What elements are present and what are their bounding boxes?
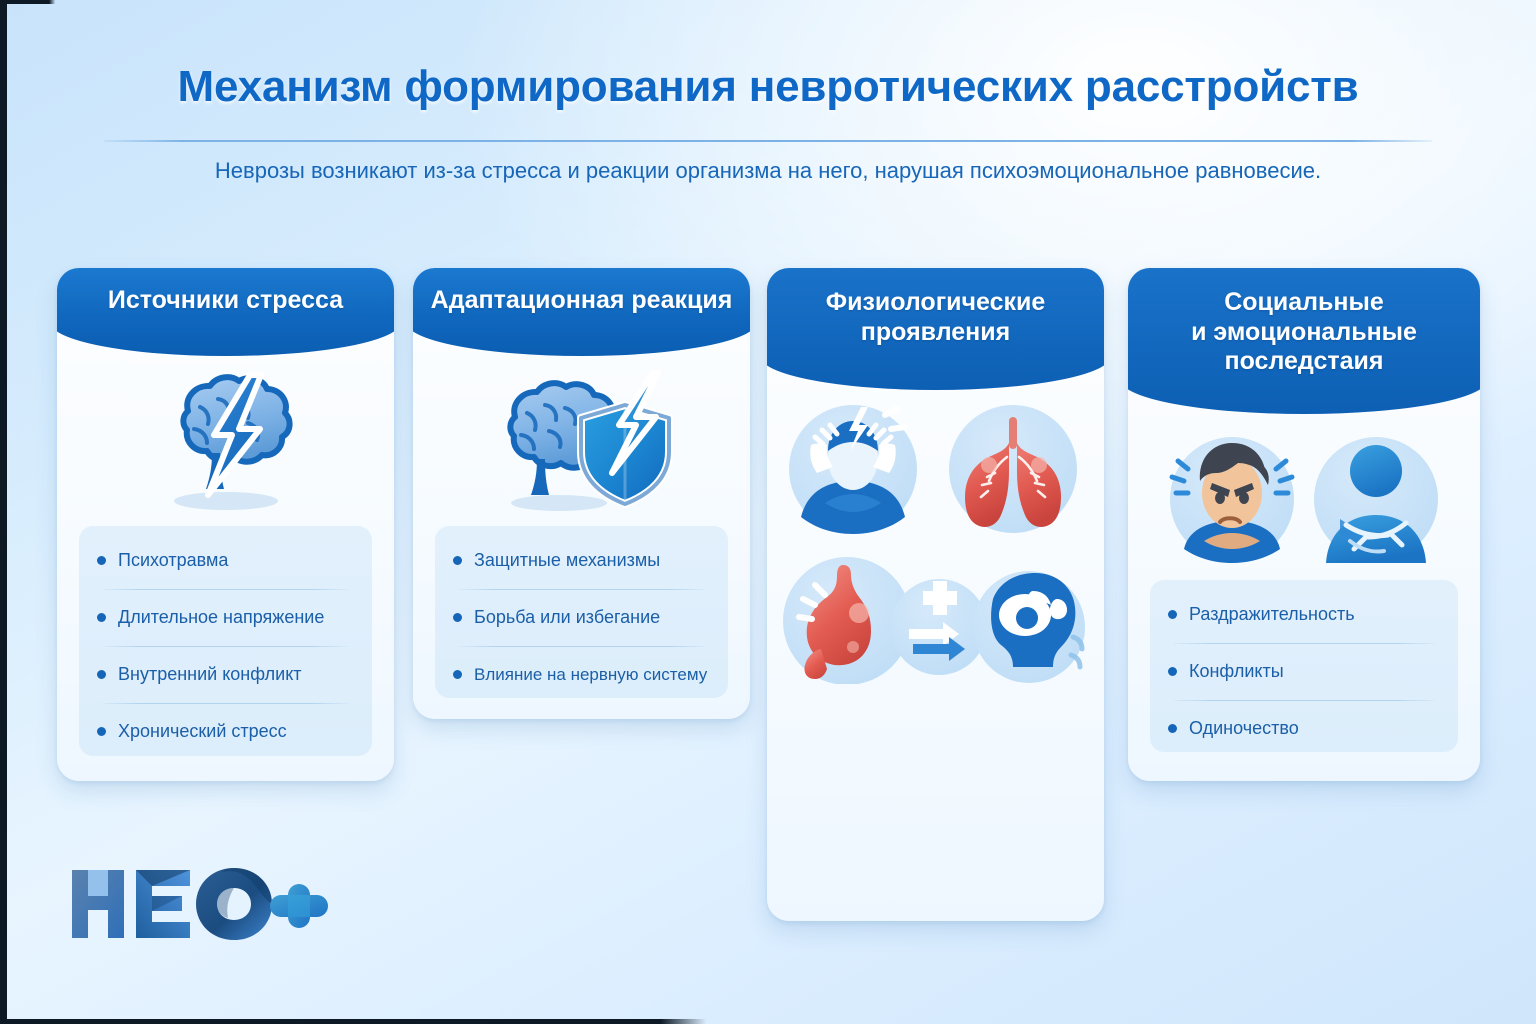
- card-title: Источники стресса: [108, 286, 343, 316]
- social-emotional-icons-group: [1154, 423, 1454, 573]
- bullet-icon: [1168, 667, 1177, 676]
- bullet-icon: [1168, 610, 1177, 619]
- bullet-icon: [453, 613, 462, 622]
- infographic-canvas: Механизм формирования невротических расс…: [0, 0, 1536, 1024]
- card-physiological-manifestations[interactable]: Физиологические проявления: [767, 268, 1104, 921]
- list-item[interactable]: Конфликты: [1168, 643, 1440, 700]
- list-item[interactable]: Длительное напряжение: [97, 589, 354, 646]
- icon-zone-social-emotional: [1128, 420, 1480, 576]
- card-header-sources-of-stress: Источники стресса: [57, 268, 394, 356]
- icon-zone-physiological: [767, 396, 1104, 686]
- list-adaptive-reaction: Защитные механизмы Борьба или избегание …: [435, 526, 728, 698]
- bullet-icon: [1168, 724, 1177, 733]
- bullet-icon: [453, 556, 462, 565]
- list-item-label: Внутренний конфликт: [118, 664, 302, 685]
- card-sources-of-stress[interactable]: Источники стресса: [57, 268, 394, 781]
- title-divider: [104, 140, 1432, 142]
- list-item[interactable]: Раздражительность: [1168, 586, 1440, 643]
- icon-zone-brain-bolt: [57, 364, 394, 520]
- list-item[interactable]: Внутренний конфликт: [97, 646, 354, 703]
- list-item-label: Хронический стресс: [118, 721, 287, 742]
- card-adaptive-reaction[interactable]: Адаптационная реакция: [413, 268, 750, 719]
- icon-zone-brain-shield: [413, 364, 750, 520]
- list-item-label: Одиночество: [1189, 718, 1299, 739]
- list-item-label: Защитные механизмы: [474, 550, 660, 571]
- page-title: Механизм формирования невротических расс…: [0, 62, 1536, 112]
- card-title: Физиологические проявления: [826, 288, 1046, 347]
- list-item-label: Психотравма: [118, 550, 228, 571]
- card-title-line: Социальные: [1191, 288, 1417, 318]
- card-title-line: Физиологические: [826, 288, 1046, 318]
- brain-shield-lightning-icon: [467, 367, 697, 517]
- page-subtitle: Неврозы возникают из-за стресса и реакци…: [0, 158, 1536, 184]
- list-social-emotional: Раздражительность Конфликты Одиночество: [1150, 580, 1458, 752]
- card-header-physiological: Физиологические проявления: [767, 268, 1104, 390]
- list-item[interactable]: Борьба или избегание: [453, 589, 710, 646]
- frame-edge-bottom: [0, 1019, 1536, 1024]
- bullet-icon: [97, 727, 106, 736]
- card-title-line: проявления: [826, 318, 1046, 348]
- list-item[interactable]: Психотравма: [97, 532, 354, 589]
- bullet-icon: [97, 670, 106, 679]
- list-item-label: Влияние на нервную систему: [474, 665, 707, 685]
- brand-logo[interactable]: [70, 862, 330, 944]
- frame-edge-top: [0, 0, 1536, 4]
- neo-plus-logo-icon: [70, 862, 330, 944]
- list-item[interactable]: Хронический стресс: [97, 703, 354, 760]
- card-title-line: последстаия: [1191, 347, 1417, 377]
- card-title: Социальные и эмоциональные последстаия: [1191, 288, 1417, 377]
- bullet-icon: [97, 613, 106, 622]
- card-header-adaptive-reaction: Адаптационная реакция: [413, 268, 750, 356]
- list-item[interactable]: Влияние на нервную систему: [453, 646, 710, 703]
- physiological-icons-group: [781, 399, 1091, 684]
- card-social-emotional-consequences[interactable]: Социальные и эмоциональные последстаия: [1128, 268, 1480, 781]
- list-sources-of-stress: Психотравма Длительное напряжение Внутре…: [79, 526, 372, 756]
- list-item-label: Борьба или избегание: [474, 607, 660, 628]
- brain-lightning-icon: [126, 367, 326, 517]
- frame-edge-left: [0, 0, 7, 1024]
- list-item-label: Раздражительность: [1189, 604, 1355, 625]
- bullet-icon: [97, 556, 106, 565]
- card-title: Адаптационная реакция: [431, 286, 733, 316]
- list-item-label: Конфликты: [1189, 661, 1284, 682]
- list-item-label: Длительное напряжение: [118, 607, 324, 628]
- bullet-icon: [453, 670, 462, 679]
- card-header-social-emotional: Социальные и эмоциональные последстаия: [1128, 268, 1480, 414]
- list-item[interactable]: Защитные механизмы: [453, 532, 710, 589]
- card-title-line: и эмоциональные: [1191, 318, 1417, 348]
- list-item[interactable]: Одиночество: [1168, 700, 1440, 757]
